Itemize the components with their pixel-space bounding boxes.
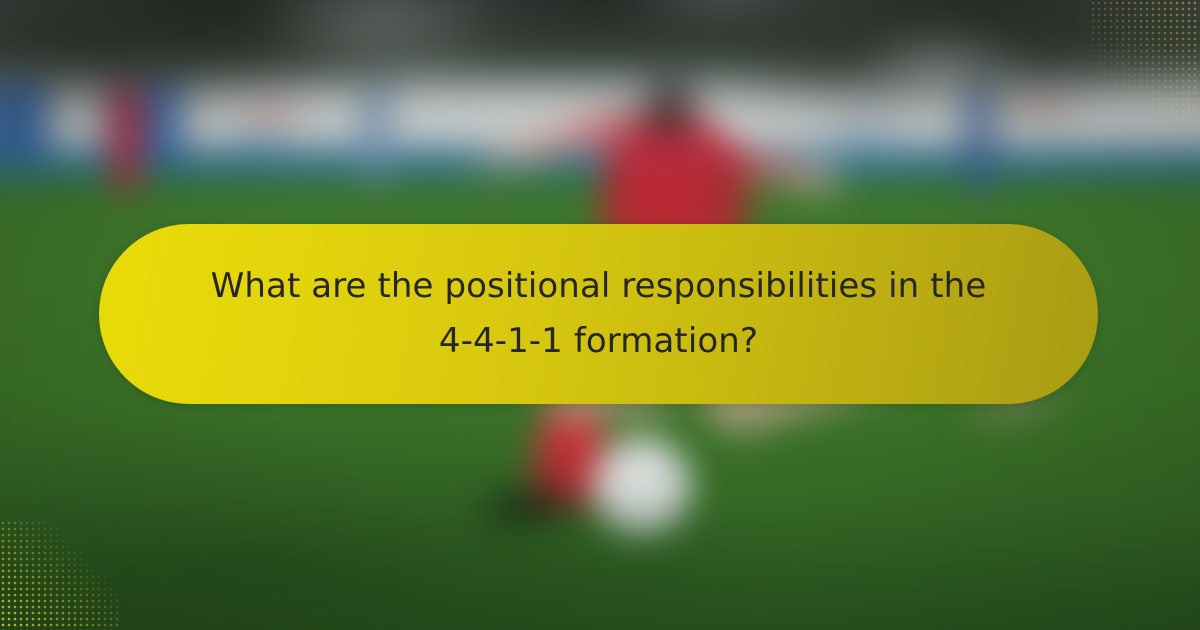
dot-grid-bottom-left-icon <box>0 520 120 630</box>
question-pill: What are the positional responsibilities… <box>99 224 1098 404</box>
question-line-2: 4-4-1-1 formation? <box>439 321 758 361</box>
question-title: What are the positional responsibilities… <box>199 259 999 369</box>
dot-grid-top-right-icon <box>1090 0 1200 130</box>
question-line-1: What are the positional responsibilities… <box>211 266 987 306</box>
question-card: What are the positional responsibilities… <box>0 0 1200 630</box>
